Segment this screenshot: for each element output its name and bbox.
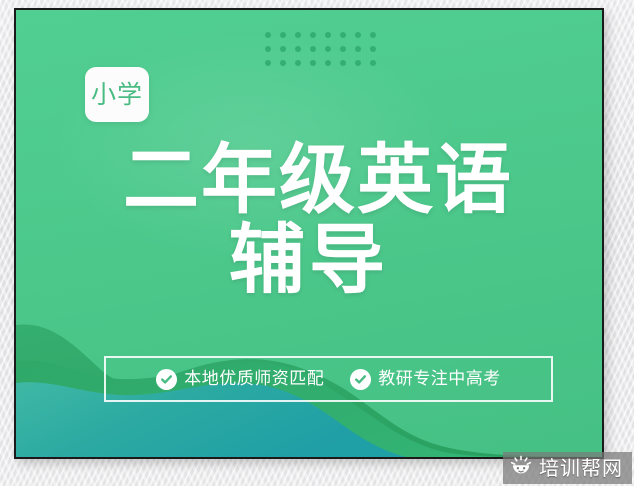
feature-item-label: 本地优质师资匹配 (184, 370, 324, 389)
grade-level-badge: 小学 (85, 67, 149, 122)
feature-list: 本地优质师资匹配 教研专注中高考 (104, 356, 553, 402)
poster-title-line-1: 二年级英语 (16, 138, 602, 222)
grade-level-badge-label: 小学 (91, 82, 143, 107)
poster-title: 二年级英语 辅导 (16, 138, 602, 302)
feature-item-1: 教研专注中高考 (350, 369, 501, 390)
poster-title-line-2: 辅导 (16, 218, 602, 302)
feature-item-label: 教研专注中高考 (378, 370, 501, 389)
feature-item-0: 本地优质师资匹配 (156, 369, 324, 390)
check-circle-icon (350, 369, 371, 390)
poster-card: 小学 二年级英语 辅导 本地优质师资匹配 教研专注中高考 (14, 8, 604, 459)
watermark-text: 培训帮网 (539, 457, 623, 479)
sun-face-icon (510, 455, 532, 482)
check-circle-icon (156, 369, 177, 390)
watermark: 培训帮网 (503, 452, 632, 484)
dot-grid-icon (265, 32, 385, 74)
